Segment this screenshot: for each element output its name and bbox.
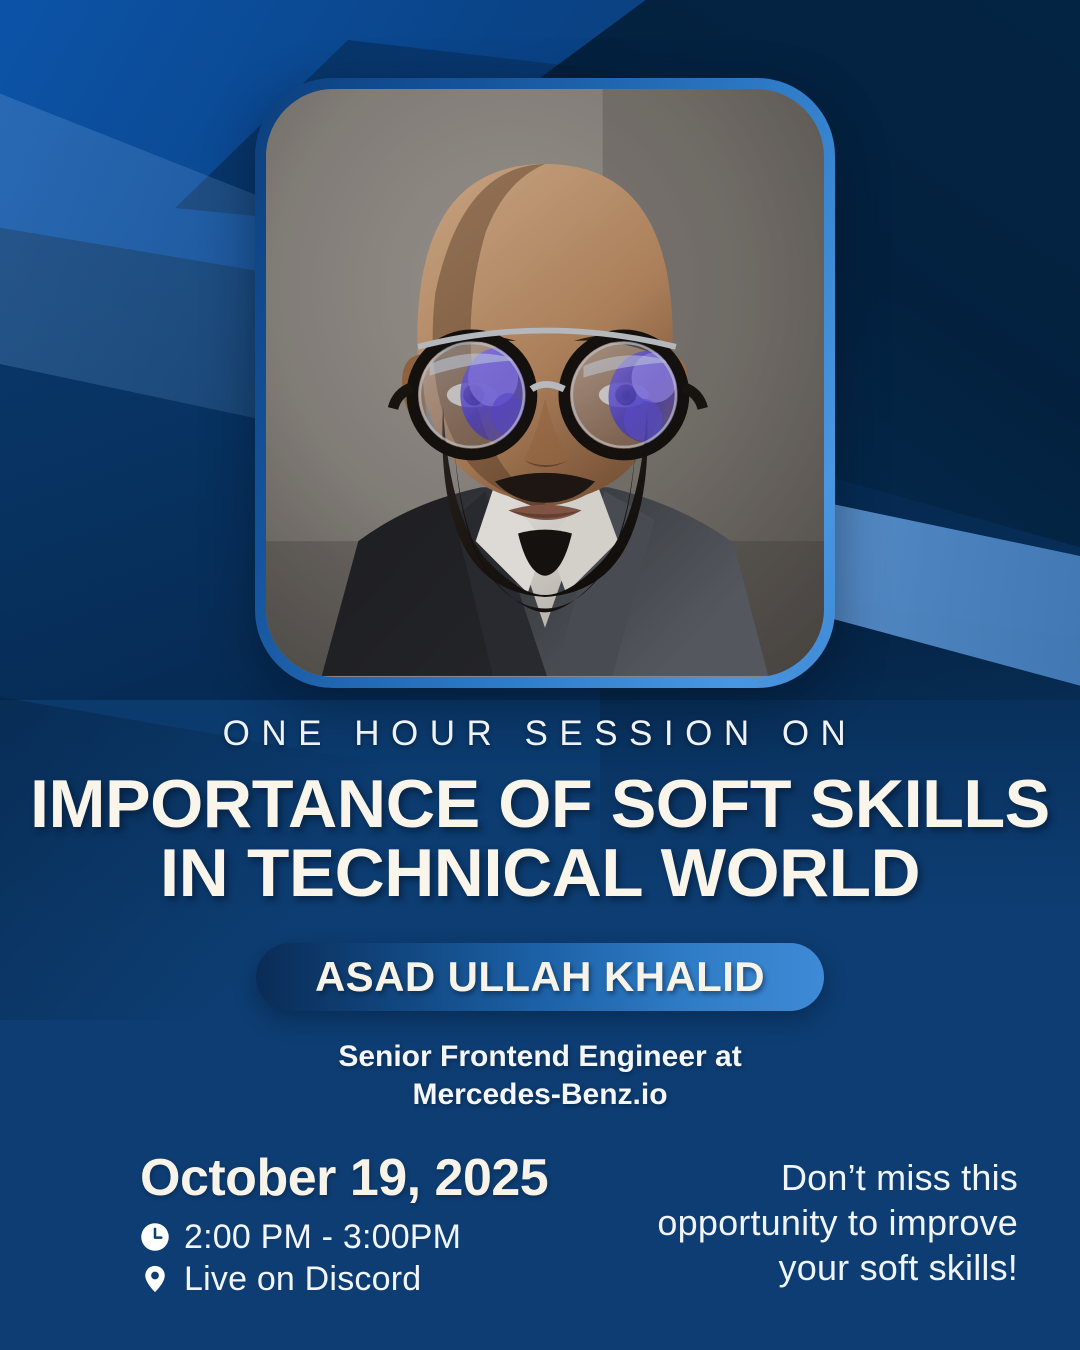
headline-line-2: IN TECHNICAL WORLD [160,839,920,908]
poster-content: ONE HOUR SESSION ON IMPORTANCE OF SOFT S… [0,700,1080,1115]
speaker-photo-frame [255,78,835,688]
session-kicker: ONE HOUR SESSION ON [0,714,1080,754]
speaker-photo [266,89,824,677]
event-poster: ONE HOUR SESSION ON IMPORTANCE OF SOFT S… [0,0,1080,1350]
event-location: Live on Discord [184,1262,421,1296]
tagline-line-2: opportunity to improve [657,1200,1018,1245]
event-location-row: Live on Discord [140,1262,548,1296]
clock-icon [140,1222,170,1252]
map-pin-icon [140,1264,170,1294]
event-details: October 19, 2025 2:00 PM - 3:00PM [140,1152,548,1296]
headline-line-1: IMPORTANCE OF SOFT SKILLS [30,770,1050,839]
tagline-line-1: Don’t miss this [657,1155,1018,1200]
speaker-role-line-1: Senior Frontend Engineer at [0,1038,1080,1076]
speaker-name-banner: ASAD ULLAH KHALID [256,943,824,1011]
speaker-name-banner-wrap: ASAD ULLAH KHALID [0,943,1080,1011]
tagline-line-3: your soft skills! [657,1245,1018,1290]
speaker-role-line-2: Mercedes-Benz.io [0,1076,1080,1114]
poster-tagline: Don’t miss this opportunity to improve y… [657,1155,1018,1296]
speaker-role: Senior Frontend Engineer at Mercedes-Ben… [0,1038,1080,1115]
page-title: IMPORTANCE OF SOFT SKILLS IN TECHNICAL W… [0,770,1080,909]
event-time: 2:00 PM - 3:00PM [184,1220,461,1254]
speaker-name: ASAD ULLAH KHALID [315,953,765,1001]
event-date: October 19, 2025 [140,1152,548,1204]
poster-footer: October 19, 2025 2:00 PM - 3:00PM [0,1152,1080,1296]
event-time-row: 2:00 PM - 3:00PM [140,1220,548,1254]
speaker-portrait-illustration [266,89,824,676]
